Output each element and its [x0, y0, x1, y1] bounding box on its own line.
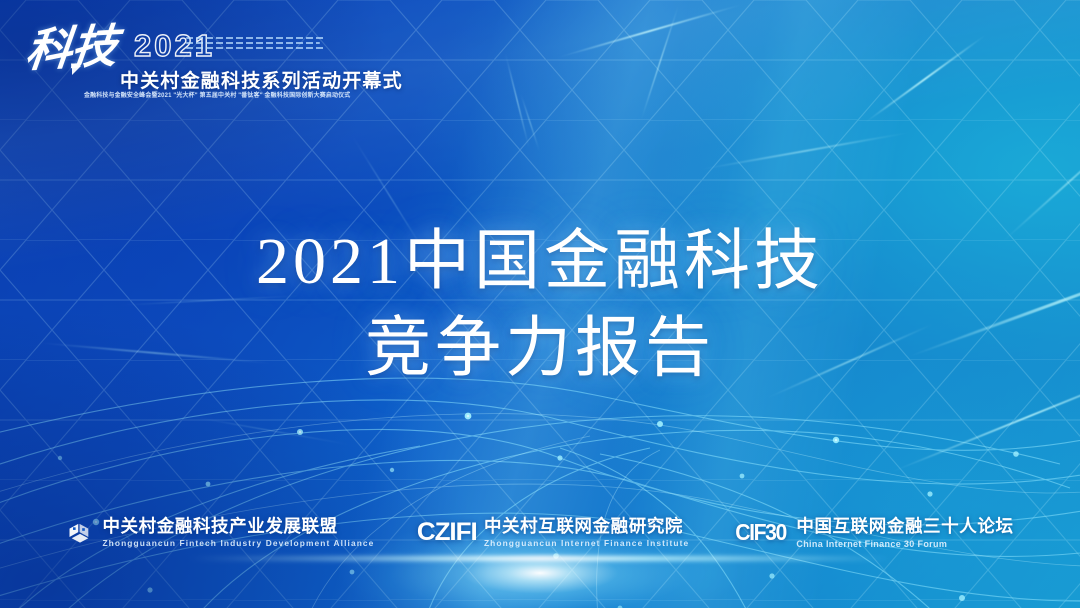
logo-alliance: 中关村金融科技产业发展联盟 Zhongguancun Fintech Indus… — [66, 516, 374, 549]
cif30-wordmark: CIF30 — [735, 521, 786, 544]
event-logo-pinyin-strip — [186, 37, 326, 52]
event-logo-subline: 金融科技与金融安全峰会暨2021 "光大杯" 第五届中关村 "番钛客" 金融科技… — [84, 90, 326, 99]
poster-title: 2021中国金融科技 竞争力报告 — [0, 218, 1080, 392]
logo-cif30-text: 中国互联网金融三十人论坛 China Internet Finance 30 F… — [796, 516, 1013, 549]
logo-alliance-text: 中关村金融科技产业发展联盟 Zhongguancun Fintech Indus… — [102, 516, 374, 549]
czifi-wordmark: CZIFI — [417, 520, 477, 545]
logo-cif30-en: China Internet Finance 30 Forum — [796, 539, 1013, 549]
title-line-1: 2021中国金融科技 — [0, 218, 1080, 305]
horizon-light-bar — [190, 556, 890, 561]
event-logo: 科技 2021 中关村金融科技系列活动开幕式 金融科技与金融安全峰会暨2021 … — [22, 22, 352, 104]
logo-czifi: CZIFI 中关村互联网金融研究院 Zhongguancun Internet … — [418, 516, 689, 549]
logo-alliance-en: Zhongguancun Fintech Industry Developmen… — [102, 539, 374, 549]
event-logo-headline: 中关村金融科技系列活动开幕式 — [120, 66, 403, 93]
logo-czifi-text: 中关村互联网金融研究院 Zhongguancun Internet Financ… — [484, 516, 689, 549]
logo-cif30: CIF30 中国互联网金融三十人论坛 China Internet Financ… — [733, 516, 1013, 549]
event-logo-brush-text: 科技 — [23, 24, 118, 75]
center-light-flare — [280, 498, 800, 608]
logo-alliance-cn: 中关村金融科技产业发展联盟 — [102, 516, 374, 536]
sponsor-logo-bar: 中关村金融科技产业发展联盟 Zhongguancun Fintech Indus… — [0, 516, 1080, 549]
logo-czifi-cn: 中关村互联网金融研究院 — [484, 516, 689, 536]
logo-czifi-en: Zhongguancun Internet Finance Institute — [484, 539, 689, 549]
alliance-cube-icon — [66, 519, 94, 547]
logo-cif30-cn: 中国互联网金融三十人论坛 — [796, 516, 1013, 536]
title-line-2: 竞争力报告 — [0, 305, 1080, 392]
poster-canvas: 科技 2021 中关村金融科技系列活动开幕式 金融科技与金融安全峰会暨2021 … — [0, 0, 1080, 608]
